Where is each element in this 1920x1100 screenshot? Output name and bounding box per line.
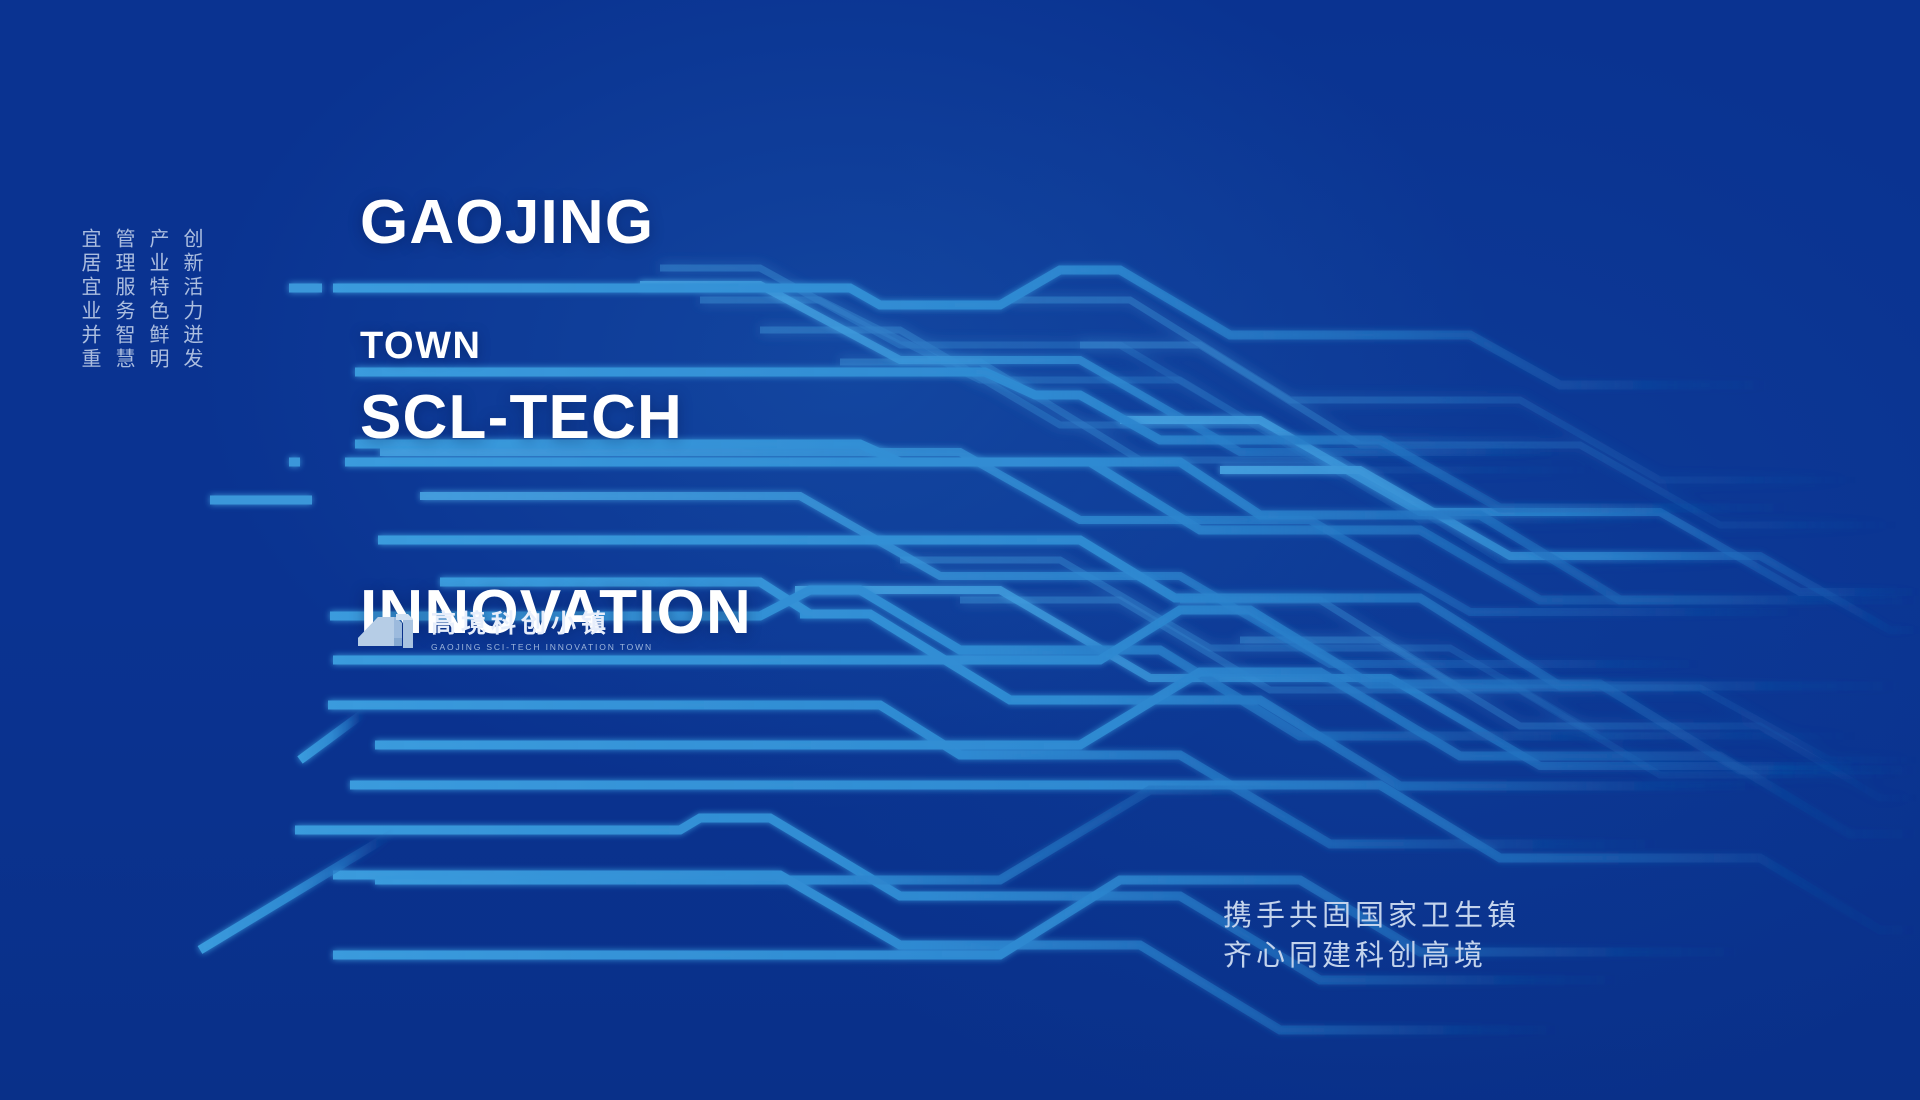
vertical-slogan-column-3: 管理服务智慧 — [112, 228, 135, 372]
corner-slogan-line-2: 齐心同建科创高境 — [1223, 935, 1520, 975]
logo-chinese-name: 高境科创小镇 — [431, 610, 653, 638]
logo-text-block: 高境科创小镇 GAOJING SCI-TECH INNOVATION TOWN — [431, 610, 653, 653]
circuit-trace-artwork — [0, 0, 1920, 1100]
page-title: GAOJING SCL-TECH INNOVATION — [360, 60, 752, 775]
vertical-slogan-column-4: 宜居宜业并重 — [78, 228, 101, 372]
vertical-slogan-column-1: 创新活力迸发 — [180, 228, 203, 372]
house-building-icon — [356, 608, 418, 654]
headline-subtitle: TOWN — [360, 325, 481, 368]
logo-english-name: GAOJING SCI-TECH INNOVATION TOWN — [431, 641, 653, 653]
headline-line-2: SCL-TECH — [360, 385, 752, 450]
logo-lockup: 高境科创小镇 GAOJING SCI-TECH INNOVATION TOWN — [356, 608, 653, 654]
vertical-slogan: 创新活力迸发 产业特色鲜明 管理服务智慧 宜居宜业并重 — [78, 228, 203, 372]
vertical-slogan-column-2: 产业特色鲜明 — [146, 228, 169, 372]
corner-slogan-line-1: 携手共固国家卫生镇 — [1223, 895, 1520, 935]
corner-slogan: 携手共固国家卫生镇 齐心同建科创高境 — [1223, 895, 1520, 975]
poster-canvas: GAOJING SCL-TECH INNOVATION TOWN 创新活力迸发 … — [0, 0, 1920, 1100]
headline-line-1: GAOJING — [360, 190, 752, 255]
